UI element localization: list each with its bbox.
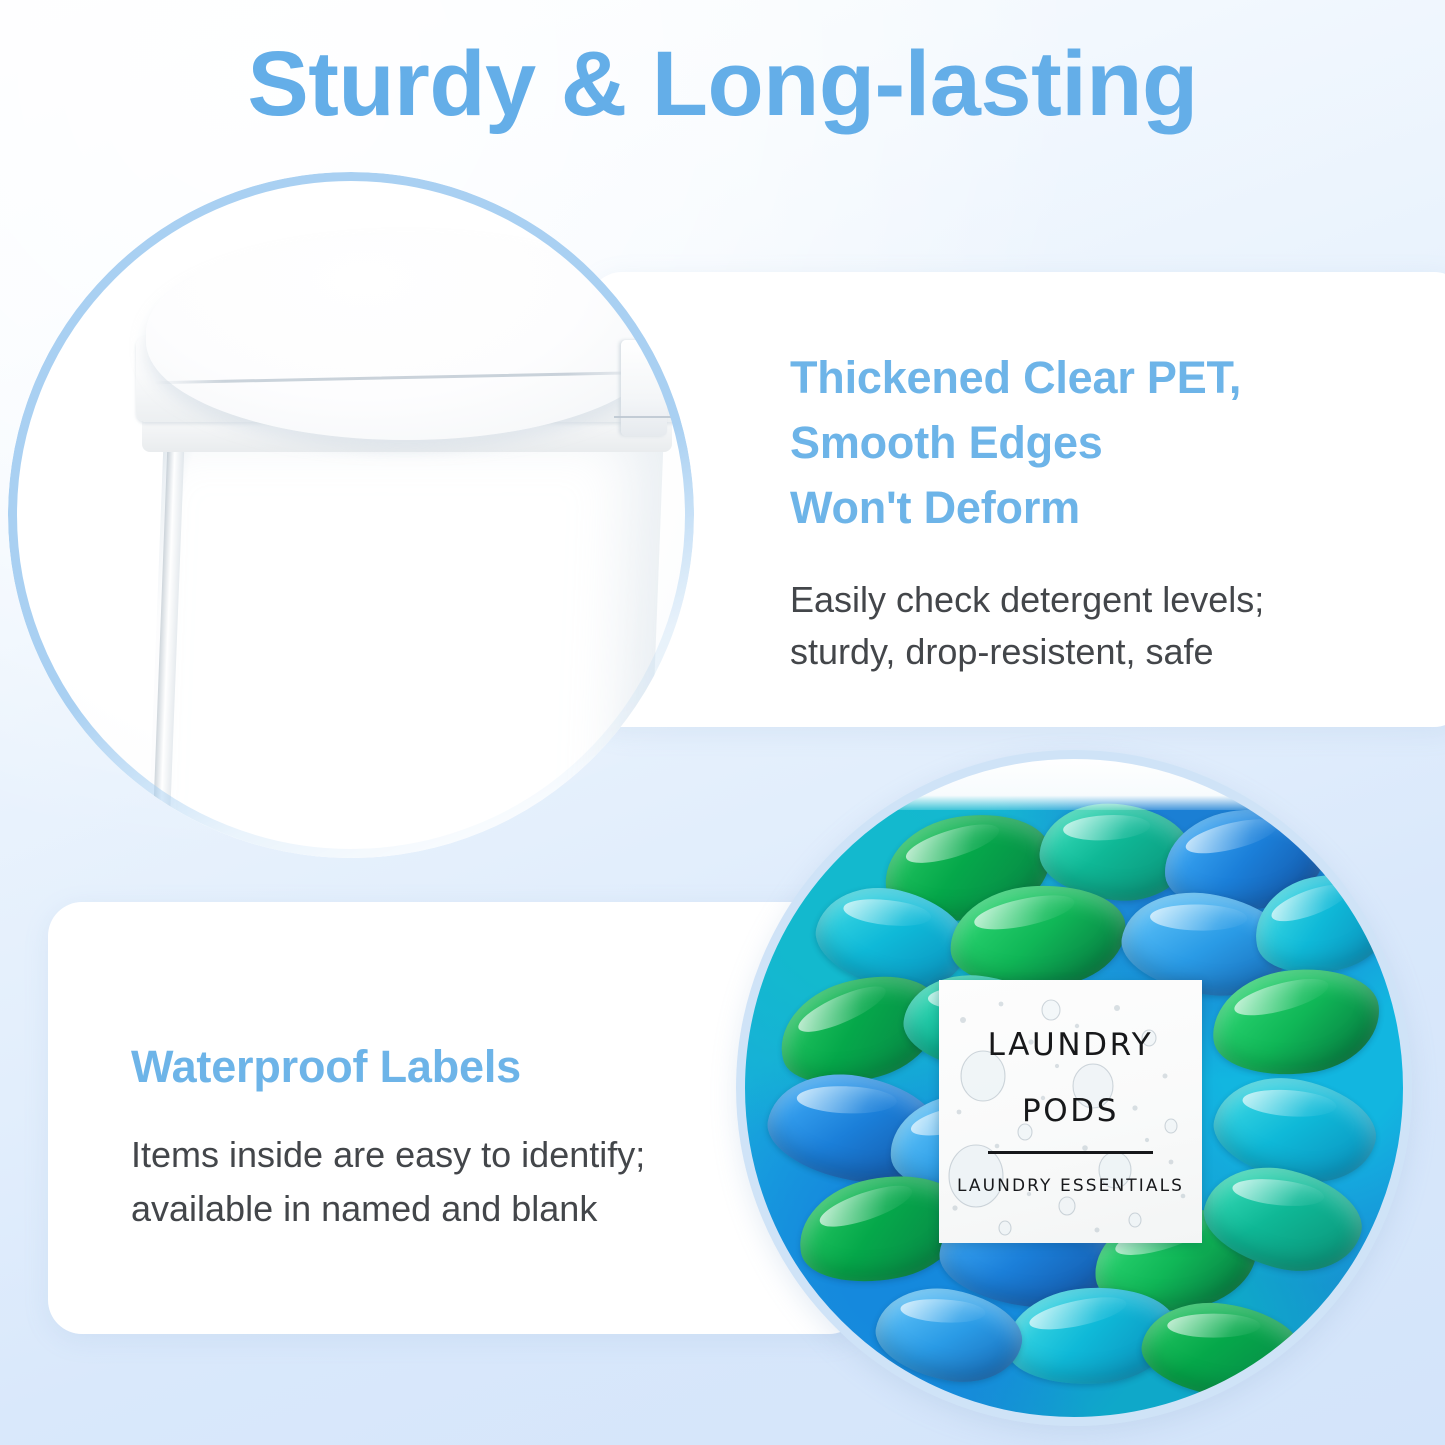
laundry-pods-photo: LAUNDRY PODS LAUNDRY ESSENTIALS	[744, 758, 1404, 1418]
page-title: Sturdy & Long-lasting	[0, 36, 1445, 133]
feature-body-thickened-clear-pet: Easily check detergent levels; sturdy, d…	[790, 574, 1264, 678]
feature-body-line: sturdy, drop-resistent, safe	[790, 626, 1264, 678]
waterproof-label: LAUNDRY PODS LAUNDRY ESSENTIALS	[939, 980, 1202, 1243]
feature-body-waterproof-labels: Items inside are easy to identify; avail…	[131, 1128, 645, 1236]
container-lid-top	[146, 234, 666, 440]
feature-text-waterproof-labels: Waterproof Labels Items inside are easy …	[131, 1035, 645, 1236]
container-body	[144, 430, 664, 858]
feature-title-line: Waterproof Labels	[131, 1035, 645, 1098]
container-latch-line	[614, 416, 674, 418]
feature-title-line: Thickened Clear PET,	[790, 346, 1264, 411]
pet-container-illustration	[128, 230, 694, 858]
feature-body-line: available in named and blank	[131, 1182, 645, 1236]
product-infographic: Sturdy & Long-lasting Thickened Clear PE…	[0, 0, 1445, 1445]
label-divider	[988, 1151, 1153, 1154]
feature-title-line: Smooth Edges	[790, 411, 1264, 476]
feature-body-line: Easily check detergent levels;	[790, 574, 1264, 626]
label-title-line1: LAUNDRY	[939, 1027, 1202, 1063]
pods-photo-top-strip	[744, 758, 1404, 810]
feature-title-line: Won't Deform	[790, 476, 1264, 541]
feature-text-thickened-clear-pet: Thickened Clear PET, Smooth Edges Won't …	[790, 346, 1264, 678]
feature-title-thickened-clear-pet: Thickened Clear PET, Smooth Edges Won't …	[790, 346, 1264, 540]
feature-body-line: Items inside are easy to identify;	[131, 1128, 645, 1182]
container-lid-latch	[621, 340, 667, 436]
waterproof-label-content: LAUNDRY PODS LAUNDRY ESSENTIALS	[939, 1027, 1202, 1196]
label-title-line2: PODS	[939, 1093, 1202, 1129]
container-detail-photo	[8, 172, 694, 858]
label-subtitle: LAUNDRY ESSENTIALS	[939, 1176, 1202, 1196]
feature-title-waterproof-labels: Waterproof Labels	[131, 1035, 645, 1098]
